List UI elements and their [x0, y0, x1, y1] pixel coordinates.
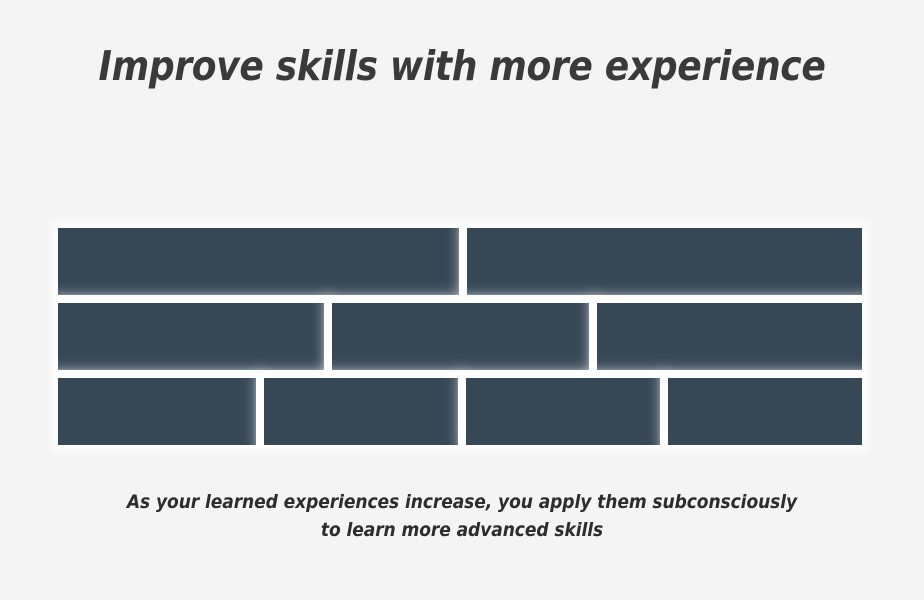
caption-text: As your learned experiences increase, yo…	[46, 488, 878, 544]
brick-2-1	[58, 303, 324, 370]
brick-1-2	[467, 228, 862, 295]
brick-1-1	[58, 228, 459, 295]
brick-row-3	[58, 374, 862, 449]
brick-row-2	[58, 299, 862, 374]
brick-3-1	[58, 378, 256, 445]
brick-2-2	[332, 303, 589, 370]
caption-line-1: As your learned experiences increase, yo…	[46, 488, 878, 516]
brick-wall-diagram	[58, 224, 862, 450]
slide-canvas: Improve skills with more experience As y…	[0, 0, 924, 600]
caption-line-2: to learn more advanced skills	[46, 516, 878, 544]
brick-row-1	[58, 224, 862, 299]
brick-3-3	[466, 378, 660, 445]
brick-3-2	[264, 378, 459, 445]
brick-2-3	[597, 303, 862, 370]
page-title: Improve skills with more experience	[55, 44, 868, 90]
brick-3-4	[668, 378, 862, 445]
